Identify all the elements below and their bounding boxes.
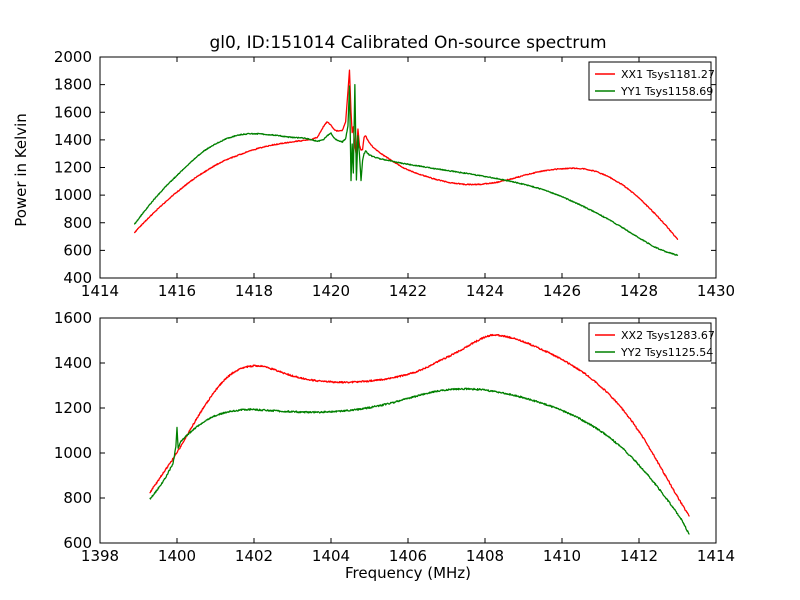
y-tick-label: 1200	[54, 399, 92, 417]
x-tick-label: 1400	[158, 547, 196, 565]
y-tick-label: 1600	[54, 309, 92, 327]
x-tick-label: 1422	[389, 282, 427, 300]
page-title: gl0, ID:151014 Calibrated On-source spec…	[209, 33, 606, 53]
legend-label-xx: XX2 Tsys1283.67	[621, 329, 715, 342]
legend: XX1 Tsys1181.27YY1 Tsys1158.69	[589, 62, 715, 100]
x-tick-label: 1414	[697, 547, 735, 565]
y-tick-label: 1200	[54, 159, 92, 177]
y-tick-label: 1600	[54, 103, 92, 121]
y-axis-label: Power in Kelvin	[12, 113, 30, 227]
y-tick-label: 600	[63, 241, 92, 259]
x-tick-label: 1404	[312, 547, 350, 565]
x-tick-label: 1410	[543, 547, 581, 565]
x-tick-label: 1416	[158, 282, 196, 300]
spectrum-figure: gl0, ID:151014 Calibrated On-source spec…	[0, 0, 800, 600]
x-tick-label: 1426	[543, 282, 581, 300]
x-tick-label: 1408	[466, 547, 504, 565]
y-tick-label: 1400	[54, 131, 92, 149]
legend-label-yy: YY2 Tsys1125.54	[620, 346, 713, 359]
y-tick-label: 800	[63, 214, 92, 232]
x-tick-label: 1420	[312, 282, 350, 300]
y-tick-label: 600	[63, 534, 92, 552]
legend: XX2 Tsys1283.67YY2 Tsys1125.54	[589, 323, 715, 361]
y-tick-label: 1000	[54, 186, 92, 204]
y-tick-label: 1400	[54, 354, 92, 372]
legend-label-yy: YY1 Tsys1158.69	[620, 85, 713, 98]
x-axis-label: Frequency (MHz)	[345, 564, 471, 582]
x-tick-label: 1412	[620, 547, 658, 565]
x-tick-label: 1424	[466, 282, 504, 300]
x-tick-label: 1406	[389, 547, 427, 565]
y-tick-label: 400	[63, 269, 92, 287]
y-tick-label: 1000	[54, 444, 92, 462]
legend-label-xx: XX1 Tsys1181.27	[621, 68, 715, 81]
x-tick-label: 1418	[235, 282, 273, 300]
y-tick-label: 2000	[54, 48, 92, 66]
y-tick-label: 800	[63, 489, 92, 507]
x-tick-label: 1402	[235, 547, 273, 565]
x-tick-label: 1428	[620, 282, 658, 300]
y-tick-label: 1800	[54, 76, 92, 94]
x-tick-label: 1430	[697, 282, 735, 300]
